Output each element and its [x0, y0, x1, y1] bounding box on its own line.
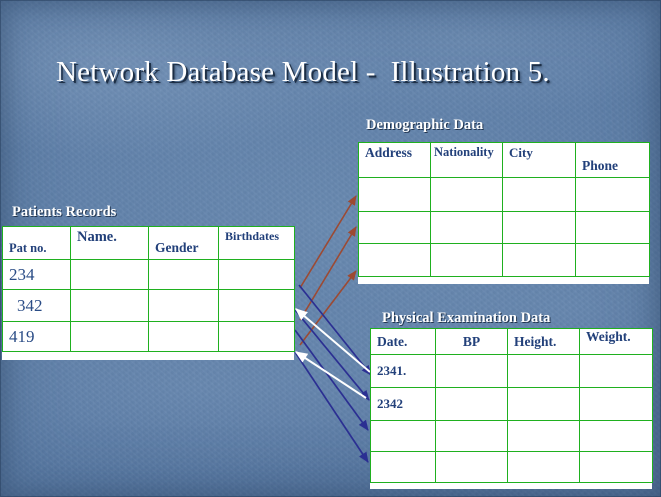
cell-pat-no: 419	[3, 322, 71, 352]
column-header-city: City	[503, 143, 576, 178]
cell-city	[503, 212, 576, 244]
cell-height	[508, 421, 580, 452]
slide-title: Network Database Model - Illustration 5.	[56, 55, 550, 89]
cell-bp	[436, 355, 508, 388]
cell-date	[371, 421, 436, 452]
physical-exam-title: Physical Examination Data	[382, 310, 550, 326]
table-row: 234	[3, 260, 295, 290]
cell-name	[71, 322, 149, 352]
column-header-bp: BP	[436, 329, 508, 355]
cell-gender	[149, 290, 219, 322]
cell-weight	[580, 421, 653, 452]
column-header-address: Address	[359, 143, 431, 178]
table-row	[359, 178, 650, 212]
physical-table-base-fill	[370, 482, 652, 489]
cell-name	[71, 290, 149, 322]
cell-city	[503, 244, 576, 277]
column-header-weight: Weight.	[580, 329, 653, 355]
cell-nationality	[431, 212, 503, 244]
column-header-nationality: Nationality	[431, 143, 503, 178]
cell-bp	[436, 388, 508, 421]
demographic-data-table: Address Nationality City Phone	[358, 142, 650, 277]
cell-date: 2342	[371, 388, 436, 421]
cell-bp	[436, 421, 508, 452]
cell-pat-no: 342	[3, 290, 71, 322]
cell-nationality	[431, 244, 503, 277]
table-row	[359, 212, 650, 244]
connector-physical-to-patients	[296, 309, 370, 398]
column-header-height: Height.	[508, 329, 580, 355]
table-header-row: Date. BP Height. Weight.	[371, 329, 653, 355]
table-row	[359, 244, 650, 277]
demographic-data-title: Demographic Data	[366, 117, 483, 133]
physical-exam-table: Date. BP Height. Weight. 2341. 2342	[370, 328, 653, 483]
cell-city	[503, 178, 576, 212]
column-header-date: Date.	[371, 329, 436, 355]
patients-records-table: Pat no. Name. Gender Birthdates 234 342 …	[2, 226, 295, 352]
table-row: 2342	[371, 388, 653, 421]
patients-records-title: Patients Records	[12, 204, 116, 220]
cell-weight	[580, 452, 653, 483]
table-header-row: Address Nationality City Phone	[359, 143, 650, 178]
cell-birthdates	[219, 290, 295, 322]
cell-address	[359, 212, 431, 244]
cell-height	[508, 452, 580, 483]
cell-phone	[576, 212, 650, 244]
cell-gender	[149, 260, 219, 290]
table-row	[371, 452, 653, 483]
connector-patients-to-physical	[295, 285, 371, 462]
cell-phone	[576, 178, 650, 212]
cell-date: 2341.	[371, 355, 436, 388]
slide-canvas: Network Database Model - Illustration 5.…	[0, 0, 661, 497]
cell-weight	[580, 388, 653, 421]
table-row	[371, 421, 653, 452]
cell-gender	[149, 322, 219, 352]
cell-height	[508, 388, 580, 421]
patients-table-base-fill	[2, 351, 294, 360]
connector-patients-to-demographic	[300, 196, 356, 345]
cell-bp	[436, 452, 508, 483]
column-header-name: Name.	[71, 227, 149, 260]
column-header-gender: Gender	[149, 227, 219, 260]
cell-date	[371, 452, 436, 483]
table-row: 419	[3, 322, 295, 352]
cell-birthdates	[219, 260, 295, 290]
cell-birthdates	[219, 322, 295, 352]
cell-height	[508, 355, 580, 388]
table-row: 2341.	[371, 355, 653, 388]
cell-address	[359, 178, 431, 212]
column-header-birthdates: Birthdates	[219, 227, 295, 260]
cell-weight	[580, 355, 653, 388]
cell-name	[71, 260, 149, 290]
column-header-phone: Phone	[576, 143, 650, 178]
demographic-table-base-fill	[358, 276, 649, 284]
column-header-pat-no: Pat no.	[3, 227, 71, 260]
cell-pat-no: 234	[3, 260, 71, 290]
table-row: 342	[3, 290, 295, 322]
cell-phone	[576, 244, 650, 277]
cell-nationality	[431, 178, 503, 212]
table-header-row: Pat no. Name. Gender Birthdates	[3, 227, 295, 260]
cell-address	[359, 244, 431, 277]
